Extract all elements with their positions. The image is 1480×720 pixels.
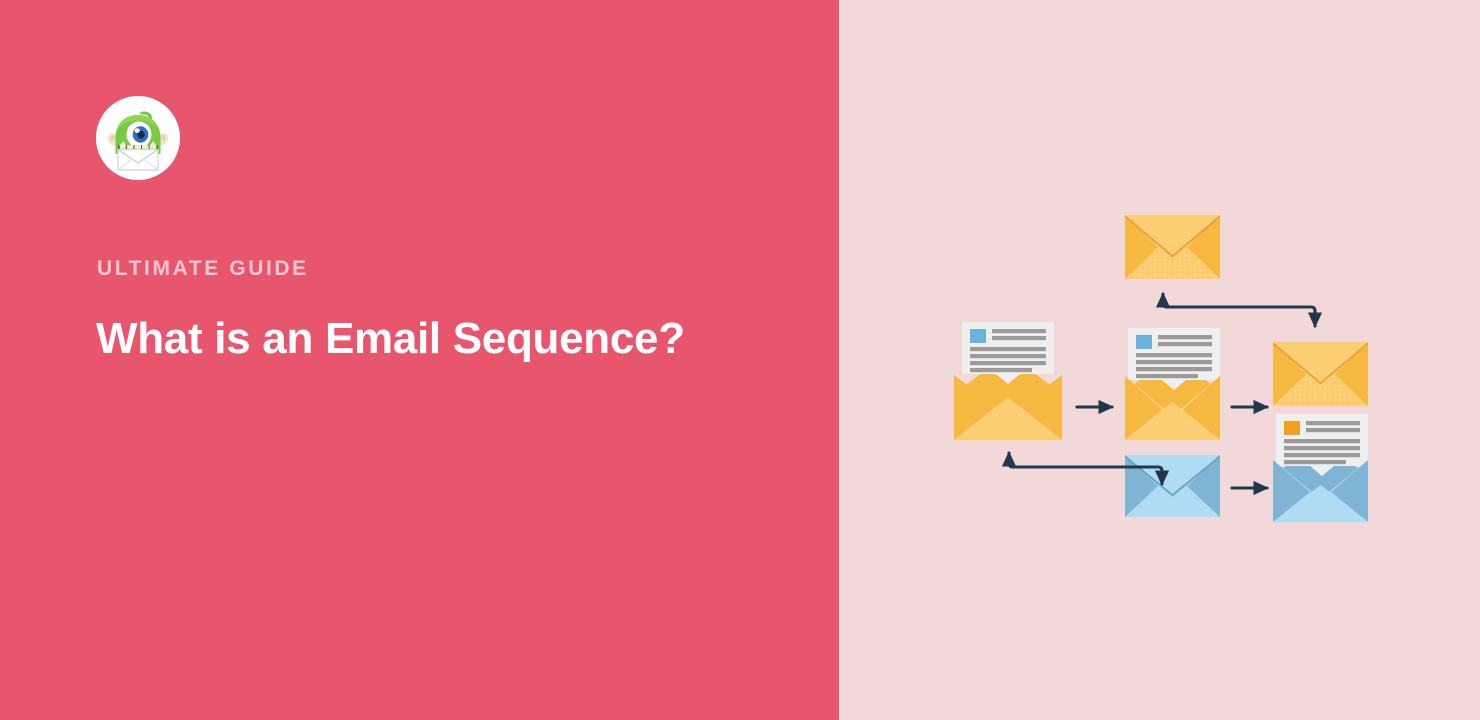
node-middle-center-open-envelope[interactable] xyxy=(1125,328,1220,440)
node-middle-left-open-envelope[interactable] xyxy=(954,322,1062,440)
banner-canvas: ULTIMATE GUIDE What is an Email Sequence… xyxy=(0,0,1480,720)
elbow-arrow-right-to-top-icon xyxy=(1163,294,1315,326)
node-middle-right-closed-envelope[interactable] xyxy=(1273,342,1368,406)
email-sequence-illustration xyxy=(940,190,1380,540)
node-top-center-closed-envelope[interactable] xyxy=(1125,215,1220,279)
monster-envelope-logo-icon xyxy=(96,96,180,180)
page-title: What is an Email Sequence? xyxy=(96,309,685,369)
node-bottom-right-open-envelope[interactable] xyxy=(1273,414,1368,522)
node-bottom-center-closed-envelope[interactable] xyxy=(1125,455,1220,517)
eyebrow-label: ULTIMATE GUIDE xyxy=(97,255,309,283)
brand-logo[interactable] xyxy=(96,96,180,180)
